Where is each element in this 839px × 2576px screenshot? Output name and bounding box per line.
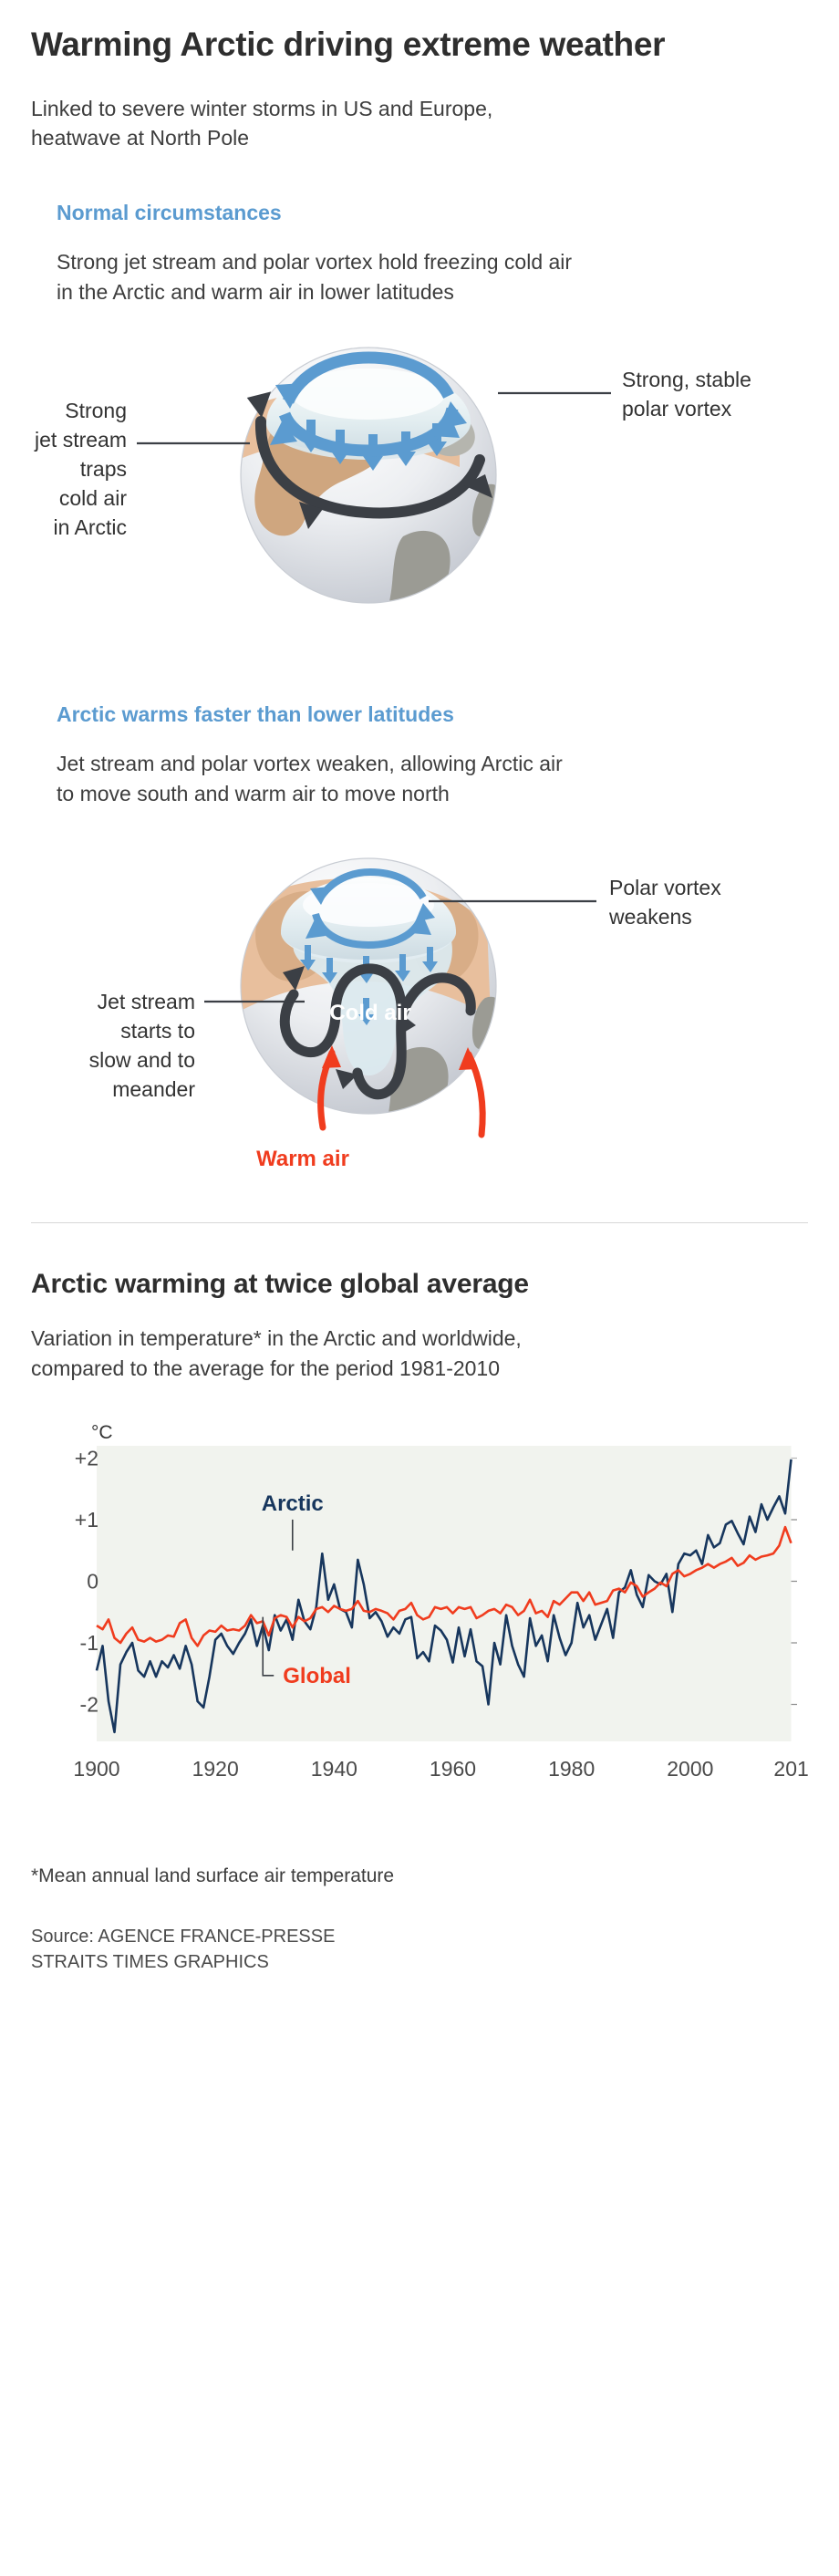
label-line: starts to: [120, 1019, 195, 1043]
x-tick-label: 1920: [192, 1757, 239, 1781]
label-line: in Arctic: [53, 515, 127, 539]
label-line: cold air: [59, 486, 127, 510]
chart-title: Arctic warming at twice global average: [31, 1269, 808, 1300]
label-line: polar vortex: [622, 397, 732, 421]
label-warm-air: Warm air: [256, 1147, 349, 1171]
annotation-arctic: Arctic: [262, 1491, 324, 1516]
section1-desc-line-2: in the Arctic and warm air in lower lati…: [57, 277, 808, 307]
label-line: meander: [112, 1077, 195, 1101]
label-strong-jet-stream: Strong jet stream traps cold air in Arct…: [34, 399, 127, 539]
plot-area-fill: [97, 1446, 791, 1741]
chart-desc-line-1: Variation in temperature* in the Arctic …: [31, 1324, 808, 1354]
chart-y-axis-labels: +2+10-1-2: [75, 1446, 98, 1716]
x-tick-label: 1960: [430, 1757, 476, 1781]
y-tick-label: +2: [75, 1446, 98, 1470]
section-normal-circumstances: Normal circumstances Strong jet stream a…: [31, 201, 808, 671]
section-arctic-warms-faster: Arctic warms faster than lower latitudes…: [31, 702, 808, 1173]
section-divider: [31, 1222, 808, 1223]
label-line: traps: [80, 457, 127, 481]
section1-description: Strong jet stream and polar vortex hold …: [57, 247, 808, 306]
chart-section: Arctic warming at twice global average V…: [31, 1269, 808, 1975]
y-tick-label: 0: [87, 1569, 98, 1593]
label-line: slow and to: [89, 1048, 195, 1072]
globe-diagram-normal: Strong jet stream traps cold air in Arct…: [31, 306, 808, 671]
label-line: jet stream: [34, 428, 127, 452]
label-polar-vortex-weakens: Polar vortex weakens: [608, 876, 721, 929]
label-line: weakens: [608, 905, 692, 929]
label-line: Polar vortex: [609, 876, 721, 899]
section2-description: Jet stream and polar vortex weaken, allo…: [57, 749, 808, 808]
section2-desc-line-2: to move south and warm air to move north: [57, 779, 808, 809]
chart-unit-label: °C: [91, 1422, 113, 1443]
x-tick-label: 2018: [773, 1757, 808, 1781]
globe-diagram-weakened: Cold air Warm air Jet stream starts to s…: [31, 808, 808, 1173]
y-tick-label: -2: [80, 1692, 98, 1716]
section2-title: Arctic warms faster than lower latitudes: [57, 702, 808, 727]
section2-desc-line-1: Jet stream and polar vortex weaken, allo…: [57, 749, 808, 779]
x-tick-label: 2000: [667, 1757, 713, 1781]
chart-source: Source: AGENCE FRANCE-PRESSE STRAITS TIM…: [31, 1924, 808, 1976]
page-subtitle-line-2: heatwave at North Pole: [31, 123, 808, 153]
page-subtitle: Linked to severe winter storms in US and…: [31, 94, 808, 153]
source-line-1: Source: AGENCE FRANCE-PRESSE: [31, 1924, 808, 1949]
chart-footnote: *Mean annual land surface air temperatur…: [31, 1865, 808, 1887]
label-cold-air: Cold air: [329, 1001, 410, 1025]
x-tick-label: 1980: [548, 1757, 595, 1781]
south-america-landmass: [387, 1047, 448, 1152]
y-tick-label: -1: [80, 1631, 98, 1655]
x-tick-label: 1900: [73, 1757, 119, 1781]
label-strong-stable-polar-vortex: Strong, stable polar vortex: [622, 368, 751, 421]
source-line-2: STRAITS TIMES GRAPHICS: [31, 1949, 808, 1975]
section1-title: Normal circumstances: [57, 201, 808, 225]
label-line: Strong, stable: [622, 368, 751, 391]
label-line: Strong: [65, 399, 127, 422]
y-tick-label: +1: [75, 1508, 98, 1532]
label-jet-stream-meander: Jet stream starts to slow and to meander: [89, 990, 196, 1101]
label-line: Jet stream: [98, 990, 195, 1013]
x-tick-label: 1940: [311, 1757, 357, 1781]
chart-description: Variation in temperature* in the Arctic …: [31, 1324, 808, 1383]
chart-plot-background: [97, 1446, 791, 1741]
section1-desc-line-1: Strong jet stream and polar vortex hold …: [57, 247, 808, 277]
infographic-page: Warming Arctic driving extreme weather L…: [0, 0, 839, 1976]
south-america-landmass: [388, 531, 450, 636]
page-subtitle-line-1: Linked to severe winter storms in US and…: [31, 94, 808, 124]
chart-desc-line-2: compared to the average for the period 1…: [31, 1354, 808, 1384]
temperature-chart: +2+10-1-2 1900192019401960198020002018 A…: [31, 1422, 808, 1823]
chart-x-axis-labels: 1900192019401960198020002018: [73, 1757, 808, 1781]
page-title: Warming Arctic driving extreme weather: [31, 0, 808, 65]
annotation-global: Global: [283, 1664, 351, 1688]
